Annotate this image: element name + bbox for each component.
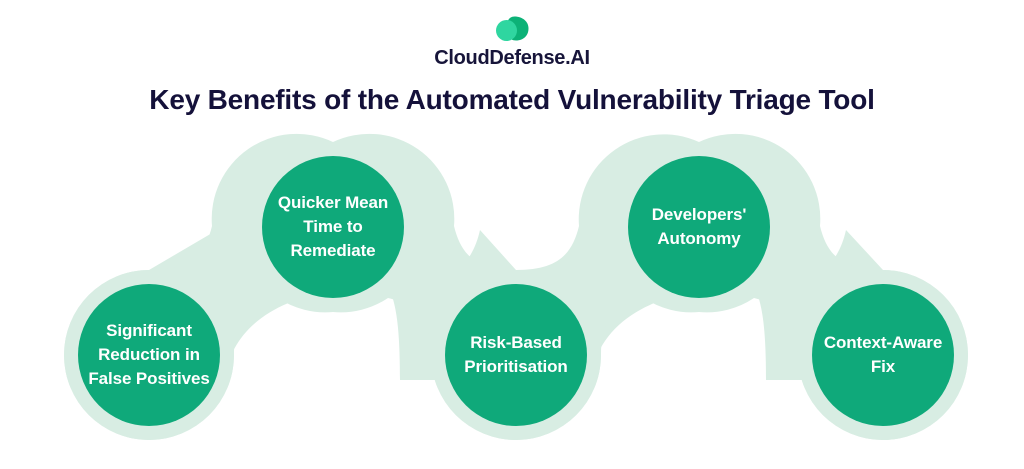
benefit-node-quicker-mean-time-to-remediate[interactable]: Quicker Mean Time to Remediate <box>262 156 404 298</box>
benefit-node-significant-reduction-in-false-positives[interactable]: Significant Reduction in False Positives <box>78 284 220 426</box>
benefit-node-context-aware-fix[interactable]: Context-Aware Fix <box>812 284 954 426</box>
benefit-label: Risk-Based Prioritisation <box>445 331 587 379</box>
benefit-node-developers-autonomy[interactable]: Developers' Autonomy <box>628 156 770 298</box>
page-title: Key Benefits of the Automated Vulnerabil… <box>0 83 1024 117</box>
brand-wordmark: CloudDefense.AI <box>0 47 1024 69</box>
benefit-node-risk-based-prioritisation[interactable]: Risk-Based Prioritisation <box>445 284 587 426</box>
benefit-label: Quicker Mean Time to Remediate <box>262 191 404 263</box>
benefit-label: Developers' Autonomy <box>628 203 770 251</box>
brand-logo: CloudDefense.AI <box>0 14 1024 69</box>
benefit-label: Context-Aware Fix <box>812 331 954 379</box>
benefits-diagram: Significant Reduction in False Positives… <box>0 130 1024 450</box>
benefit-label: Significant Reduction in False Positives <box>78 319 220 391</box>
cloud-logo-mark-icon <box>489 14 535 44</box>
